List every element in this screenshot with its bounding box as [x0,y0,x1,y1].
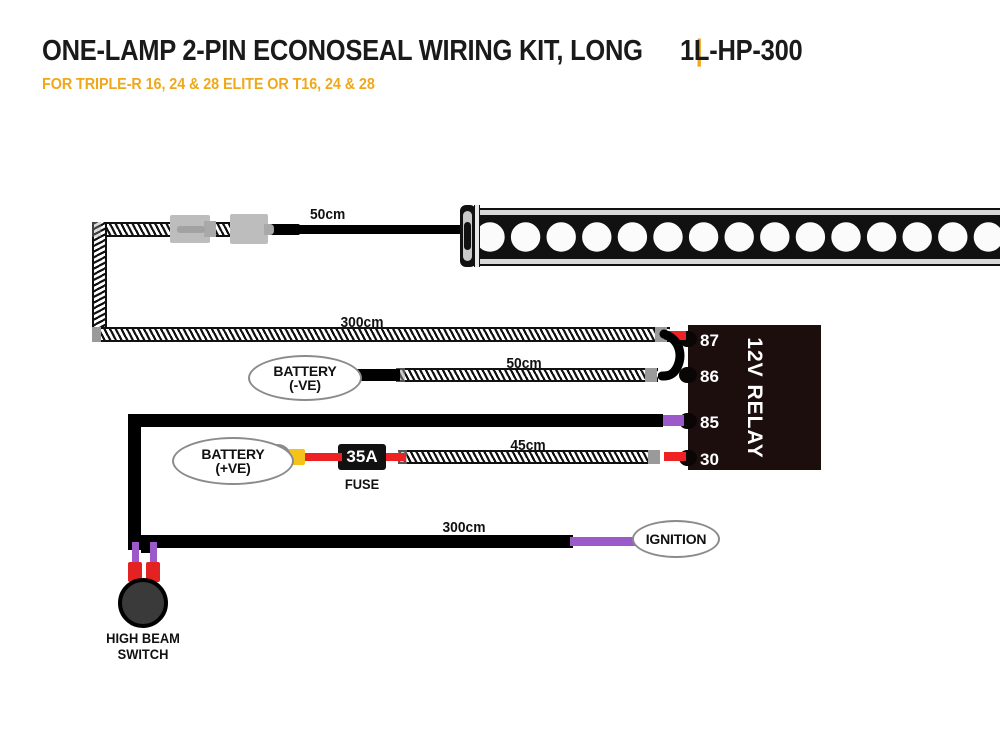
sleeve-cap-top-left [92,222,101,237]
ignition-black-wire [141,535,573,548]
sleeve-cap-bottom-left [92,327,101,342]
relay-terminal-label-30: 30 [700,450,719,470]
battery-negative-line2: (-VE) [289,377,321,393]
page-title: ONE-LAMP 2-PIN ECONOSEAL WIRING KIT, LON… [42,35,643,68]
light-bar-bottom-edge [470,264,1000,266]
lamp-lead-to-bar-wire [286,225,466,234]
relay-terminal-label-86: 86 [700,367,719,387]
title-row: ONE-LAMP 2-PIN ECONOSEAL WIRING KIT, LON… [42,34,819,68]
page-header: ONE-LAMP 2-PIN ECONOSEAL WIRING KIT, LON… [0,0,1000,140]
light-bar-endcap-core [464,222,471,250]
high-beam-switch-label: HIGH BEAM SWITCH [88,630,198,662]
high-beam-switch[interactable] [118,578,168,628]
relay-terminal-label-85: 85 [700,413,719,433]
diagram-page: ONE-LAMP 2-PIN ECONOSEAL WIRING KIT, LON… [0,0,1000,750]
fuse-rating-label: 35A [338,444,386,470]
econoseal-connector-male [230,214,268,244]
sleeve-cap-earth-right [645,368,657,382]
light-bar-lens-row [470,216,1000,258]
econoseal-connector-female-nose [204,221,216,237]
page-subtitle: FOR TRIPLE-R 16, 24 & 28 ELITE OR T16, 2… [42,76,375,94]
part-code: 1L-HP-300 [680,35,802,68]
fuse-caption: FUSE [340,476,384,492]
length-label-lamp-lead: 50cm [310,206,345,223]
switch-feed-vertical-wire [128,414,141,550]
length-label-ignition-lead: 300cm [443,519,486,536]
relay-30-red-wire [664,452,686,461]
length-label-power-lead: 45cm [510,437,545,454]
light-bar-endcap-flange [474,205,480,267]
battery-negative-label: BATTERY (-VE) [248,355,362,401]
light-bar-top-edge [470,208,1000,210]
battery-positive-label: BATTERY (+VE) [172,437,294,485]
length-label-main-loop: 300cm [341,314,384,331]
econoseal-connector-male-nose [264,224,274,235]
switch-feed-horizontal-wire [128,414,663,427]
sleeve-cap-power-right [648,450,660,464]
ignition-label: IGNITION [632,520,720,558]
switch-label-line2: SWITCH [118,646,169,662]
econoseal-connector-female-slot [177,226,205,233]
battery-positive-line2: (+VE) [215,460,250,476]
relay-terminal-label-87: 87 [700,331,719,351]
switch-label-line1: HIGH BEAM [106,630,180,646]
sleeve-left-run [92,222,107,342]
sleeve-top-run [92,222,244,237]
length-label-earth-lead: 50cm [506,355,541,372]
ignition-purple-wire [570,537,636,546]
